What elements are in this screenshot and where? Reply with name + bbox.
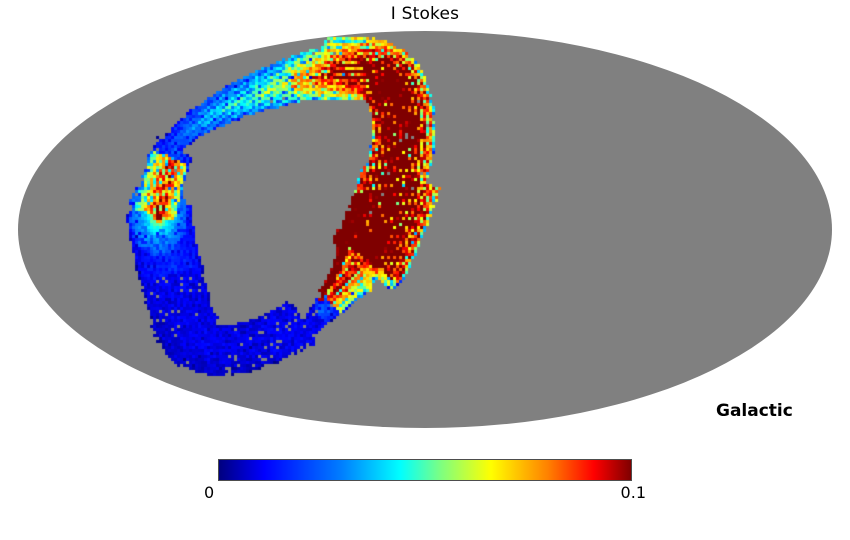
colorbar-min-label: 0 bbox=[204, 483, 214, 502]
colorbar-tick-labels: 0 0.1 bbox=[204, 483, 646, 502]
colorbar-max-label: 0.1 bbox=[621, 483, 646, 502]
mollweide-projection-ellipse bbox=[18, 31, 832, 428]
page-title: I Stokes bbox=[0, 4, 850, 24]
coordinate-system-label: Galactic bbox=[716, 401, 793, 421]
colorbar-gradient bbox=[218, 459, 632, 481]
colorbar: 0 0.1 bbox=[218, 459, 632, 505]
sky-map bbox=[18, 31, 832, 428]
sky-map-data-layer bbox=[18, 31, 832, 428]
